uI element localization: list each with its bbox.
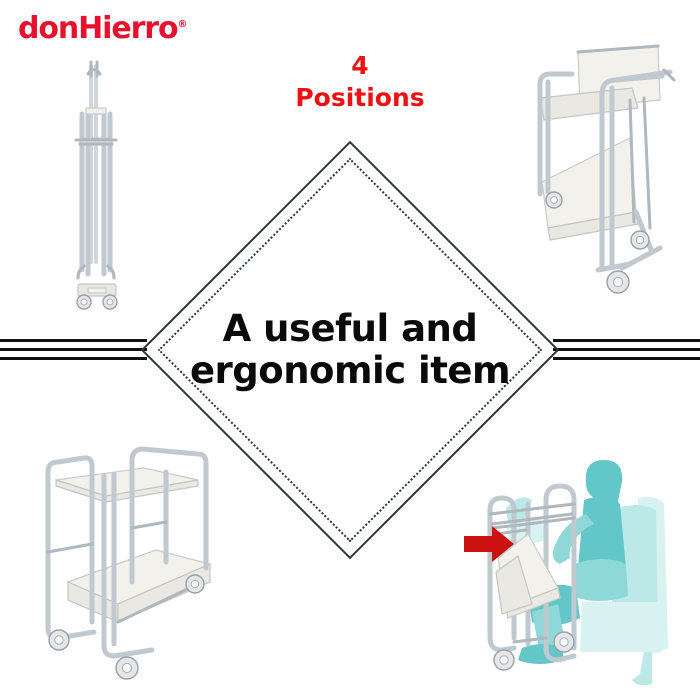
stripe-line — [0, 348, 147, 351]
headline-line-1: 4 — [250, 50, 470, 82]
stripe-line — [0, 339, 147, 342]
stripe-group-left — [0, 339, 147, 362]
headline: 4 Positions — [250, 50, 470, 114]
stripe-line — [553, 357, 700, 360]
stripe-line — [553, 348, 700, 351]
stripe-line — [553, 339, 700, 342]
registered-mark: ® — [177, 19, 187, 30]
stripe-line — [0, 357, 147, 360]
headline-line-2: Positions — [250, 82, 470, 114]
cart-folded-icon — [58, 52, 136, 314]
cart-open-icon — [32, 432, 234, 682]
poster-canvas: donHierro® 4 Positions A useful and ergo… — [0, 0, 700, 700]
product-image-fully-open — [32, 432, 234, 682]
cart-semifolded-icon — [512, 42, 700, 310]
cart-inuse-icon — [462, 452, 700, 700]
product-image-in-use — [462, 452, 700, 700]
product-image-semi-folded — [512, 42, 700, 310]
brand-logo: donHierro® — [18, 14, 187, 44]
brand-name: donHierro — [18, 11, 177, 46]
product-image-folded-upright — [58, 52, 136, 314]
stripe-group-right — [553, 339, 700, 362]
